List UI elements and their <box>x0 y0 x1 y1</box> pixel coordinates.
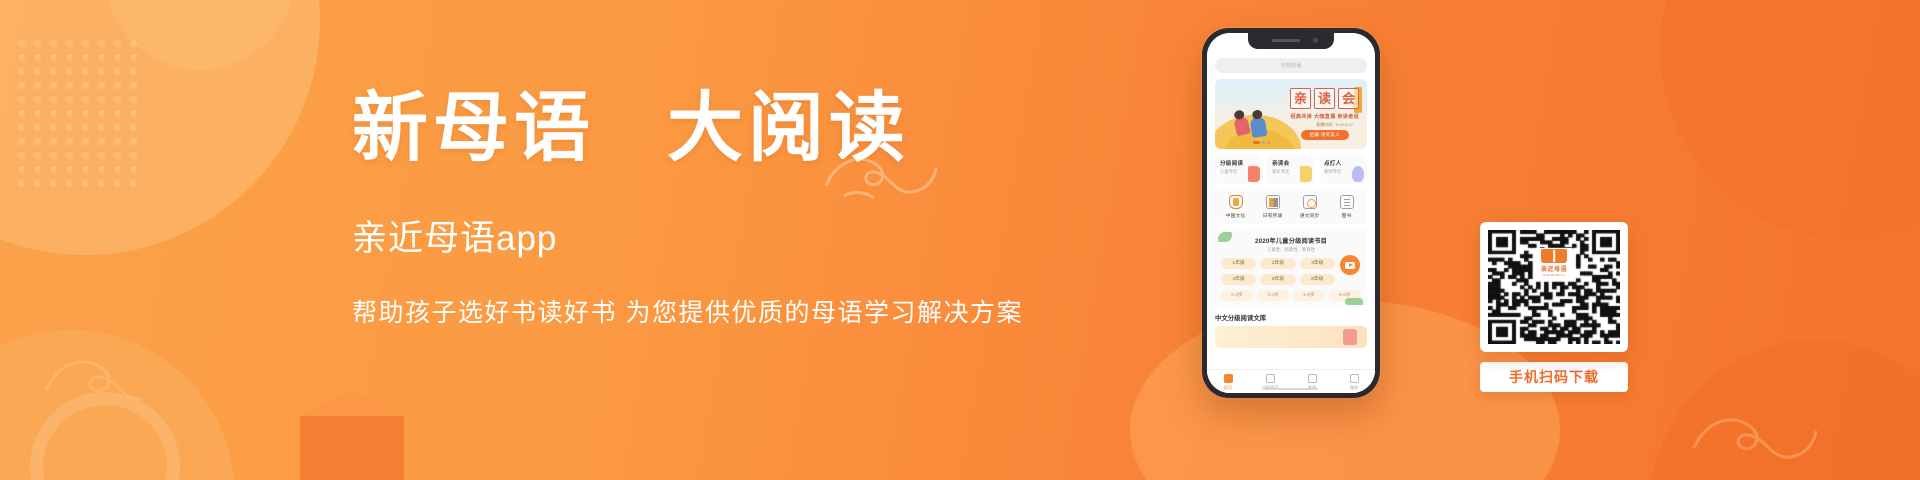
profile-icon <box>1350 374 1359 383</box>
decorative-ring-bottom-left <box>30 392 180 480</box>
dot <box>82 180 89 187</box>
dot <box>66 40 73 47</box>
dot <box>18 40 25 47</box>
quick-icon-label: 日有所诵 <box>1256 212 1290 219</box>
category-card-2[interactable]: 亲读会家长专区 <box>1267 155 1315 184</box>
carousel-dot-1[interactable] <box>1253 141 1260 144</box>
phone-speaker <box>1272 39 1300 42</box>
reading-icon <box>1266 374 1275 383</box>
grade-reading-section: 2020年儿童分级阅读书目 儿童性、经典性、教育性 1年级2年级3年级 4年级5… <box>1215 229 1367 307</box>
dot <box>66 152 73 159</box>
dot <box>50 180 57 187</box>
grade-section-title: 2020年儿童分级阅读书目 <box>1221 236 1361 245</box>
phone-notch <box>1248 33 1334 49</box>
dot <box>98 138 105 145</box>
qr-center-logo: 亲近母语 QINJIN MUYU <box>1535 248 1573 278</box>
dot <box>18 82 25 89</box>
dot <box>66 54 73 61</box>
dot <box>34 138 41 145</box>
dot <box>130 54 137 61</box>
dot <box>66 82 73 89</box>
search-input[interactable]: 日有所诵 <box>1215 58 1367 73</box>
dot <box>50 54 57 61</box>
discover-icon <box>1308 374 1317 383</box>
hero-subtitle: 经典共读 大咖直播 亲读者说 <box>1291 113 1359 120</box>
dot <box>50 96 57 103</box>
phone-inner-frame: 日有所诵 亲 读 会 经典共读 大咖直播 亲读者说 直播时间：9.16 <box>1207 33 1375 393</box>
category-card-list: 分级阅读儿童专区亲读会家长专区点灯人教师专区 <box>1215 155 1367 184</box>
dot <box>82 54 89 61</box>
dot <box>66 124 73 131</box>
dot <box>130 82 137 89</box>
decorative-blob-right <box>1660 0 1920 240</box>
dot <box>18 152 25 159</box>
dot <box>114 54 121 61</box>
dot <box>34 110 41 117</box>
quick-icon-2[interactable]: 日有所诵 <box>1256 195 1290 219</box>
tab-home[interactable]: 首页 <box>1211 374 1245 391</box>
banner-tagline: 帮助孩子选好书读好书 为您提供优质的母语学习解决方案 <box>352 293 1012 329</box>
page-title: 新母语 大阅读 <box>352 88 1012 170</box>
dot <box>98 40 105 47</box>
book-yellow-icon <box>1300 166 1312 182</box>
dot <box>98 152 105 159</box>
dot <box>66 166 73 173</box>
dot <box>114 138 121 145</box>
dot <box>130 40 137 47</box>
dot <box>98 82 105 89</box>
cloud-swirl-ornament-2 <box>1690 390 1840 460</box>
dot <box>114 166 121 173</box>
dot <box>114 82 121 89</box>
quick-icon-3[interactable]: 语文同步 <box>1293 195 1327 219</box>
qr-logo-subtext: QINJIN MUYU <box>1543 273 1565 277</box>
dot <box>66 110 73 117</box>
carousel-dot-2[interactable] <box>1262 141 1265 144</box>
grade-chip-5年级[interactable]: 5年级 <box>1260 274 1295 285</box>
dot <box>50 68 57 75</box>
dot <box>82 138 89 145</box>
grade-chip-1年级[interactable]: 1年级 <box>1221 258 1256 269</box>
dot <box>130 96 137 103</box>
headline-part-2: 大阅读 <box>667 87 910 171</box>
books-list-icon <box>1340 195 1354 209</box>
grade-section-subtitle: 儿童性、经典性、教育性 <box>1221 247 1361 253</box>
decorative-dot-grid <box>18 40 144 190</box>
tab-label: 我的 <box>1337 385 1371 391</box>
dot <box>34 96 41 103</box>
dot <box>98 96 105 103</box>
cloud-swirl-ornament-3 <box>40 330 180 400</box>
age-chip-0-3岁[interactable]: 0-3岁 <box>1221 290 1253 301</box>
tab-profile[interactable]: 我的 <box>1337 374 1371 391</box>
dot <box>50 138 57 145</box>
play-glyph <box>1345 262 1355 269</box>
dot <box>34 40 41 47</box>
dot <box>98 180 105 187</box>
category-card-1[interactable]: 分级阅读儿童专区 <box>1215 155 1263 184</box>
qr-code-card: 亲近母语 QINJIN MUYU <box>1480 222 1628 352</box>
dot <box>34 180 41 187</box>
dot <box>34 82 41 89</box>
dot <box>18 110 25 117</box>
grade-chip-2年级[interactable]: 2年级 <box>1260 258 1295 269</box>
dot <box>50 110 57 117</box>
search-placeholder: 日有所诵 <box>1281 62 1301 69</box>
culture-vase-icon <box>1229 195 1243 209</box>
dot <box>130 124 137 131</box>
library-card[interactable] <box>1215 326 1367 348</box>
dot <box>50 82 57 89</box>
dot <box>98 68 105 75</box>
dot <box>82 110 89 117</box>
dot <box>66 138 73 145</box>
qr-download-block: 亲近母语 QINJIN MUYU 手机扫码下载 <box>1480 222 1628 392</box>
dot <box>34 152 41 159</box>
dot <box>114 68 121 75</box>
dot <box>82 96 89 103</box>
age-chip-row: 0-3岁3-4岁4-5岁5-6岁 <box>1221 290 1361 301</box>
phone-mockup: 日有所诵 亲 读 会 经典共读 大咖直播 亲读者说 直播时间：9.16 <box>1202 28 1380 398</box>
dot <box>18 68 25 75</box>
quick-icon-label: 中国文化 <box>1219 212 1253 219</box>
dot <box>114 110 121 117</box>
dot <box>18 138 25 145</box>
dot <box>82 152 89 159</box>
dot <box>130 68 137 75</box>
dot <box>130 138 137 145</box>
hero-char-1: 亲 <box>1290 88 1311 109</box>
qr-logo-text: 亲近母语 <box>1541 264 1567 273</box>
tab-label: 首页 <box>1211 385 1245 391</box>
dot <box>114 152 121 159</box>
phone-camera <box>1313 38 1318 43</box>
app-name-subtitle: 亲近母语app <box>352 210 1012 261</box>
sync-circle-icon <box>1303 195 1317 209</box>
home-indicator <box>1264 388 1318 391</box>
dot <box>114 96 121 103</box>
dot <box>114 40 121 47</box>
dot <box>114 180 121 187</box>
grade-chip-row-2: 4年级5年级6年级 <box>1221 274 1361 285</box>
dot <box>82 82 89 89</box>
banner-text-block: 新母语 大阅读 亲近母语app 帮助孩子选好书读好书 为您提供优质的母语学习解决… <box>352 88 1012 329</box>
grade-chip-6年级[interactable]: 6年级 <box>1300 274 1335 285</box>
dot <box>130 180 137 187</box>
dot <box>34 124 41 131</box>
grade-chip-4年级[interactable]: 4年级 <box>1221 274 1256 285</box>
dot <box>66 180 73 187</box>
dot <box>34 166 41 173</box>
dot <box>50 40 57 47</box>
quick-icon-row: 中国文化日有所诵语文同步图书 <box>1215 189 1367 224</box>
dot <box>50 152 57 159</box>
lamp-purple-icon <box>1352 166 1364 182</box>
dot <box>18 166 25 173</box>
promo-banner: 新母语 大阅读 亲近母语app 帮助孩子选好书读好书 为您提供优质的母语学习解决… <box>0 0 1920 480</box>
quick-icon-4[interactable]: 图书 <box>1330 195 1364 219</box>
dot <box>98 166 105 173</box>
age-chip-3-4岁[interactable]: 3-4岁 <box>1257 290 1289 301</box>
dot <box>82 68 89 75</box>
age-chip-4-5岁[interactable]: 4-5岁 <box>1293 290 1325 301</box>
dot <box>130 152 137 159</box>
carousel-dots[interactable] <box>1253 141 1270 144</box>
dot <box>18 54 25 61</box>
dot <box>98 124 105 131</box>
dot <box>82 166 89 173</box>
dot <box>130 110 137 117</box>
home-icon <box>1224 374 1233 383</box>
dot <box>114 124 121 131</box>
library-section-title: 中文分级阅读文库 <box>1215 313 1367 322</box>
app-screen: 日有所诵 亲 读 会 经典共读 大咖直播 亲读者说 直播时间：9.16 <box>1207 33 1375 393</box>
open-book-icon <box>1541 249 1567 263</box>
download-button[interactable]: 手机扫码下载 <box>1480 362 1628 392</box>
dot <box>18 96 25 103</box>
dot <box>130 166 137 173</box>
book-red-icon <box>1248 166 1260 182</box>
grade-chip-3年级[interactable]: 3年级 <box>1300 258 1335 269</box>
hero-banner[interactable]: 亲 读 会 经典共读 大咖直播 亲读者说 直播时间：9.16-9.27 招募 领… <box>1215 79 1367 149</box>
dot <box>18 124 25 131</box>
quick-icon-1[interactable]: 中国文化 <box>1219 195 1253 219</box>
dot <box>82 40 89 47</box>
dot <box>50 166 57 173</box>
recite-book-icon <box>1266 195 1280 209</box>
hero-title: 亲 读 会 <box>1290 88 1359 109</box>
dot <box>66 96 73 103</box>
quick-icon-label: 语文同步 <box>1293 212 1327 219</box>
dot <box>50 124 57 131</box>
dot <box>34 54 41 61</box>
leaf-ornament-bottom <box>1345 298 1363 305</box>
hero-char-3: 会 <box>1338 88 1359 109</box>
category-card-3[interactable]: 点灯人教师专区 <box>1319 155 1367 184</box>
hero-cta-button[interactable]: 招募 领奖友人 <box>1301 130 1349 140</box>
dot <box>66 68 73 75</box>
hero-date: 直播时间：9.16-9.27 <box>1316 122 1353 128</box>
headline-part-1: 新母语 <box>352 87 595 171</box>
dot <box>18 180 25 187</box>
hero-char-2: 读 <box>1314 88 1335 109</box>
video-play-icon[interactable] <box>1340 255 1360 275</box>
decorative-cube <box>300 416 404 480</box>
dot <box>82 124 89 131</box>
quick-icon-label: 图书 <box>1330 212 1364 219</box>
carousel-dot-3[interactable] <box>1267 141 1270 144</box>
dot <box>98 54 105 61</box>
dot <box>34 68 41 75</box>
dot <box>98 110 105 117</box>
